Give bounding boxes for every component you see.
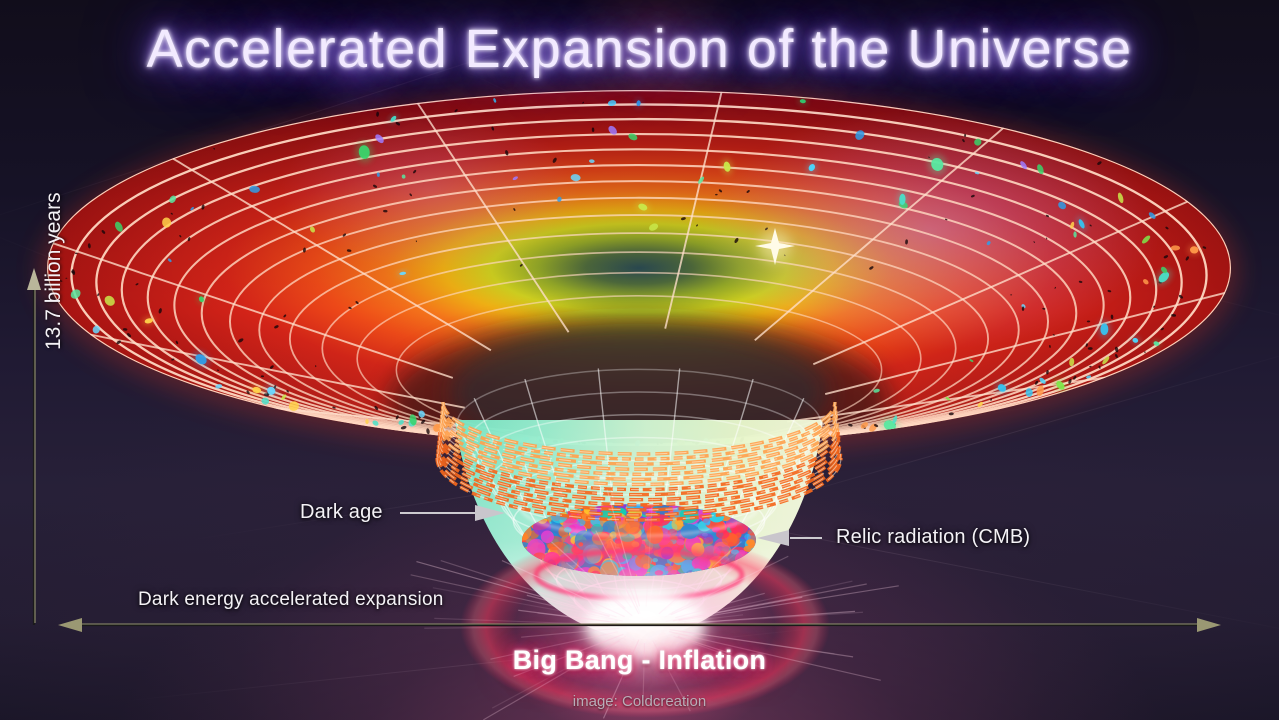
relic-radiation-label: Relic radiation (CMB) — [836, 526, 1030, 549]
time-axis — [27, 268, 41, 625]
dark-energy-label: Dark energy accelerated expansion — [138, 589, 444, 611]
universe-expansion-figure: Accelerated Expansion of the Universe 13… — [0, 0, 1279, 720]
dark-age-label: Dark age — [300, 501, 383, 524]
arrow-left-icon — [58, 618, 82, 632]
funnel-diagram — [0, 0, 1279, 720]
time-axis-label: 13.7 billion years — [42, 192, 66, 350]
arrow-right-icon — [1197, 618, 1221, 632]
big-bang-label: Big Bang - Inflation — [0, 645, 1279, 676]
image-credit: image: Coldcreation — [0, 693, 1279, 710]
page-title: Accelerated Expansion of the Universe — [0, 18, 1279, 80]
arrow-up-icon — [27, 268, 41, 290]
